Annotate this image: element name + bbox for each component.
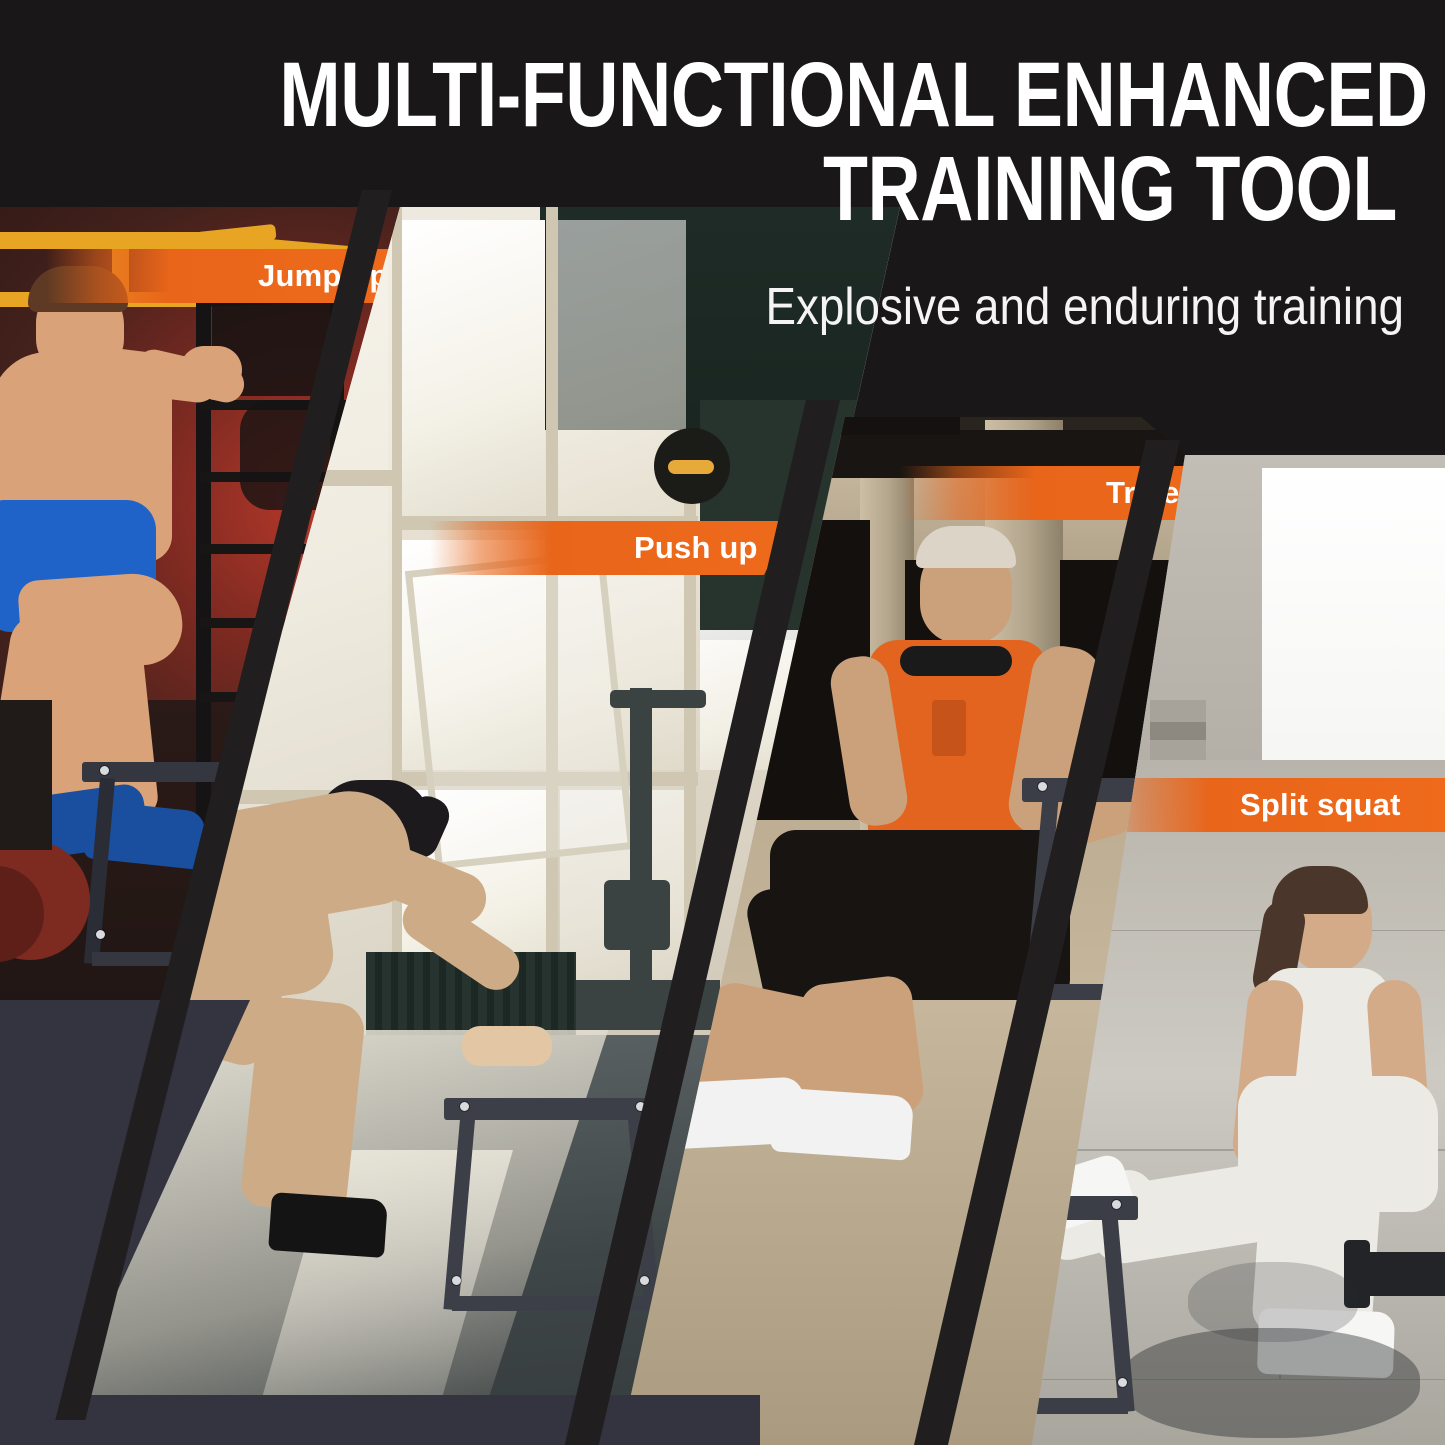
- label-split-squat: Split squat: [1090, 778, 1445, 832]
- label-push-up-text: Push up: [634, 530, 758, 566]
- label-push-up: Push up: [430, 521, 790, 575]
- label-split-squat-text: Split squat: [1240, 787, 1401, 823]
- product-feature-banner: Jump up: [0, 0, 1445, 1445]
